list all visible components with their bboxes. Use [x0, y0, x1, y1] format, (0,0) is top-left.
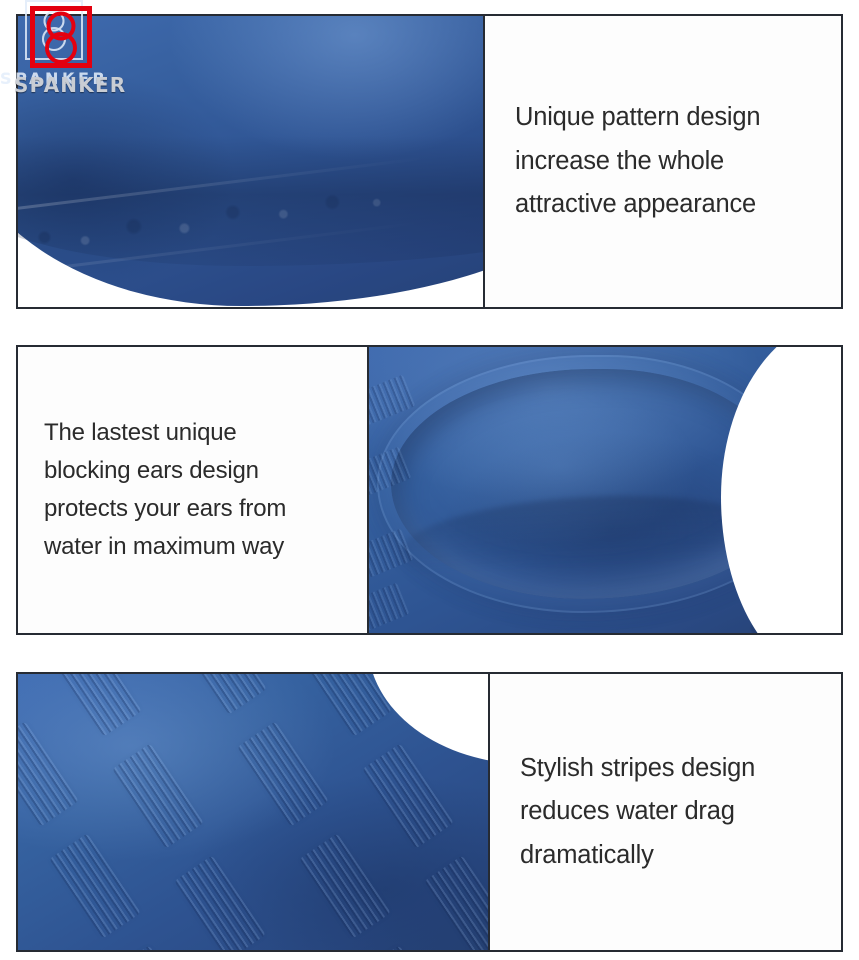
caption-line: Stylish stripes design — [520, 747, 841, 791]
ribbed-stripe-block — [424, 855, 488, 950]
ribbed-stripe-block — [18, 721, 79, 826]
ribbed-stripe-block — [111, 945, 203, 950]
ribbed-stripe-block — [299, 833, 391, 938]
ribbed-stripe-block — [237, 721, 329, 826]
caption-line: increase the whole — [515, 140, 841, 184]
caption-line: reduces water drag — [520, 790, 841, 834]
ribbed-stripe-block — [362, 743, 454, 848]
caption-line: protects your ears from — [44, 490, 367, 528]
caption-line: Unique pattern design — [515, 96, 841, 140]
product-photo-ear-pocket — [369, 347, 841, 633]
feature-text-ears: The lastest unique blocking ears design … — [18, 347, 367, 633]
caption-line: blocking ears design — [44, 452, 367, 490]
product-infographic: Unique pattern design increase the whole… — [0, 0, 859, 960]
ribbed-stripe-block — [361, 945, 453, 950]
feature-panel-ears: The lastest unique blocking ears design … — [16, 345, 843, 635]
caption-line: water in maximum way — [44, 528, 367, 566]
ribbed-stripe-block — [112, 743, 204, 848]
ribbed-stripe-block — [174, 855, 266, 950]
feature-text-stripes: Stylish stripes design reduces water dra… — [490, 674, 841, 950]
caption-line: The lastest unique — [44, 414, 367, 452]
caption-line: attractive appearance — [515, 183, 841, 227]
product-photo-stripes — [18, 674, 488, 950]
product-photo-pattern — [18, 16, 483, 307]
feature-panel-pattern: Unique pattern design increase the whole… — [16, 14, 843, 309]
ribbed-stripe-block — [49, 833, 141, 938]
ribbed-stripe-block — [50, 674, 142, 737]
caption-line: dramatically — [520, 834, 841, 878]
ribbed-stripe-block — [175, 674, 267, 715]
feature-panel-stripes: Stylish stripes design reduces water dra… — [16, 672, 843, 952]
feature-text-pattern: Unique pattern design increase the whole… — [485, 16, 841, 307]
